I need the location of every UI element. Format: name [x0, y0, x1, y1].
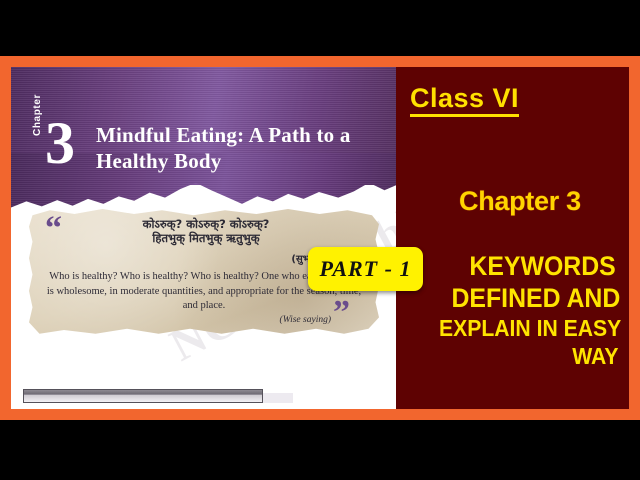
close-quote-icon: ” [333, 303, 350, 323]
keywords-line-2: DEFINED AND [420, 284, 624, 312]
class-label: Class VI [410, 83, 519, 117]
open-quote-icon: “ [45, 219, 62, 239]
chapter-word-vertical: Chapter [32, 94, 43, 136]
letterbox-top-bar [0, 0, 640, 56]
keywords-headline-block: KEYWORDS DEFINED AND EXPLAIN IN EASY WAY [402, 252, 624, 369]
maroon-text-panel: Class VI Chapter 3 KEYWORDS DEFINED AND … [396, 67, 629, 409]
orange-frame-border: Chapter 3 Mindful Eating: A Path to a He… [0, 56, 640, 420]
thumbnail-stage: Chapter 3 Mindful Eating: A Path to a He… [0, 0, 640, 480]
chapter-label: Chapter 3 [459, 186, 581, 216]
part-badge: PART - 1 [308, 247, 423, 291]
keywords-line-3: EXPLAIN IN EASY [420, 317, 624, 341]
keywords-line-4: WAY [420, 345, 624, 369]
chapter-number: 3 [45, 116, 75, 170]
letterbox-bottom-bar [0, 420, 640, 480]
quote-source: (Wise saying) [201, 315, 331, 325]
sanskrit-line-2: हितभुक् मितभुक् ऋतुभुक् [81, 231, 331, 245]
book-page-panel: Chapter 3 Mindful Eating: A Path to a He… [11, 67, 396, 409]
page-bottom-strip [23, 389, 263, 403]
book-chapter-title: Mindful Eating: A Path to a Healthy Body [96, 122, 386, 174]
page-bottom-strip-right [263, 393, 293, 403]
frame-inner-content: Chapter 3 Mindful Eating: A Path to a He… [11, 67, 629, 409]
sanskrit-line-1: कोऽरुक्? कोऽरुक्? कोऽरुक्? [81, 217, 331, 231]
part-badge-label: PART - 1 [320, 256, 412, 282]
keywords-line-1: KEYWORDS [420, 252, 624, 280]
